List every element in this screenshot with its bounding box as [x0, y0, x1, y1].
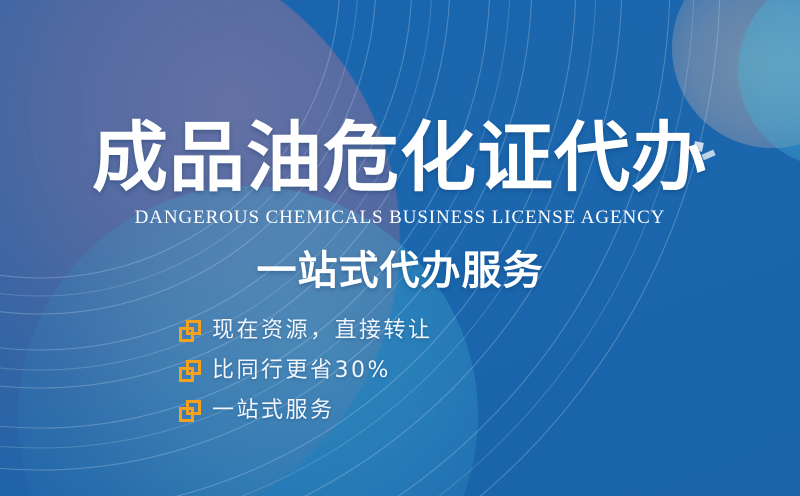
overlapping-squares-icon: [179, 320, 201, 342]
list-item: 现在资源，直接转让: [179, 318, 433, 344]
feature-label: 比同行更省30%: [212, 358, 391, 384]
list-item: 一站式服务: [179, 398, 433, 424]
overlapping-squares-icon: [179, 400, 201, 422]
banner-content: 成品油危化证代办 DANGEROUS CHEMICALS BUSINESS LI…: [0, 0, 800, 496]
list-item: 比同行更省30%: [179, 358, 433, 384]
english-subtitle: DANGEROUS CHEMICALS BUSINESS LICENSE AGE…: [0, 206, 800, 230]
overlapping-squares-icon: [179, 360, 201, 382]
promotional-banner: 成品油危化证代办 DANGEROUS CHEMICALS BUSINESS LI…: [0, 0, 800, 496]
feature-list: 现在资源，直接转让 比同行更省30% 一站式: [179, 318, 433, 424]
feature-label: 现在资源，直接转让: [212, 318, 433, 344]
sub-title: 一站式代办服务: [0, 247, 800, 295]
feature-label: 一站式服务: [212, 398, 335, 424]
main-title: 成品油危化证代办: [0, 116, 800, 200]
